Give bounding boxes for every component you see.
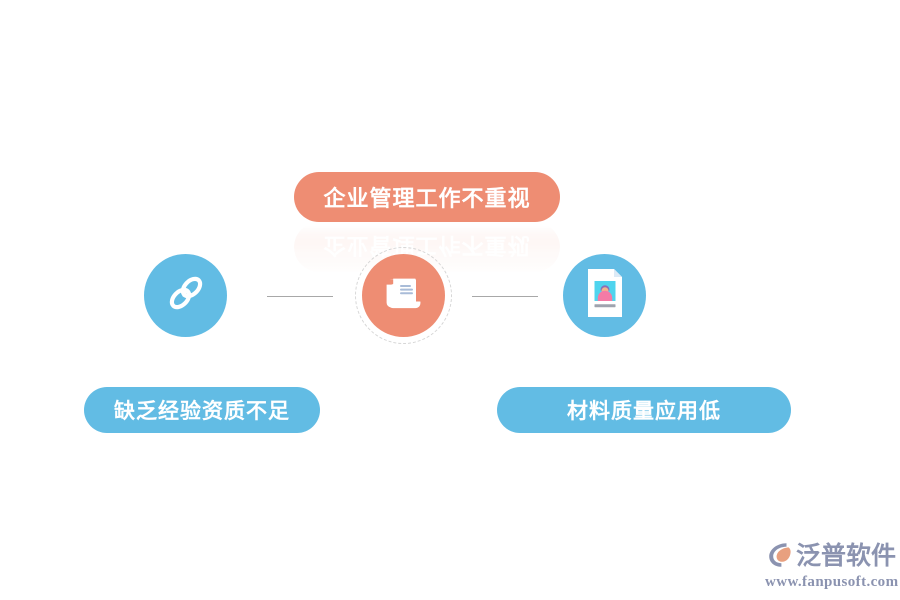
chain-link-icon: [163, 270, 209, 321]
scroll-document-icon: [380, 269, 428, 322]
diagram-canvas: 企业管理工作不重视 企业管理工作不重视: [0, 0, 900, 600]
watermark: 泛普软件 www.fanpusoft.com: [765, 538, 891, 592]
top-node-pill[interactable]: 企业管理工作不重视: [294, 172, 560, 222]
left-node-pill[interactable]: 缺乏经验资质不足: [84, 387, 320, 433]
id-card-document-icon: [582, 267, 628, 324]
center-node-circle[interactable]: [362, 254, 445, 337]
watermark-brand: 泛普软件: [796, 543, 896, 568]
right-node-pill[interactable]: 材料质量应用低: [497, 387, 791, 433]
watermark-url: www.fanpusoft.com: [765, 575, 891, 590]
watermark-row: 泛普软件: [765, 538, 891, 572]
fanpu-logo-mark-icon: [765, 540, 795, 570]
right-node-circle[interactable]: [563, 254, 646, 337]
connector-line-left: [267, 296, 333, 297]
connector-line-right: [472, 296, 538, 297]
left-node-circle[interactable]: [144, 254, 227, 337]
